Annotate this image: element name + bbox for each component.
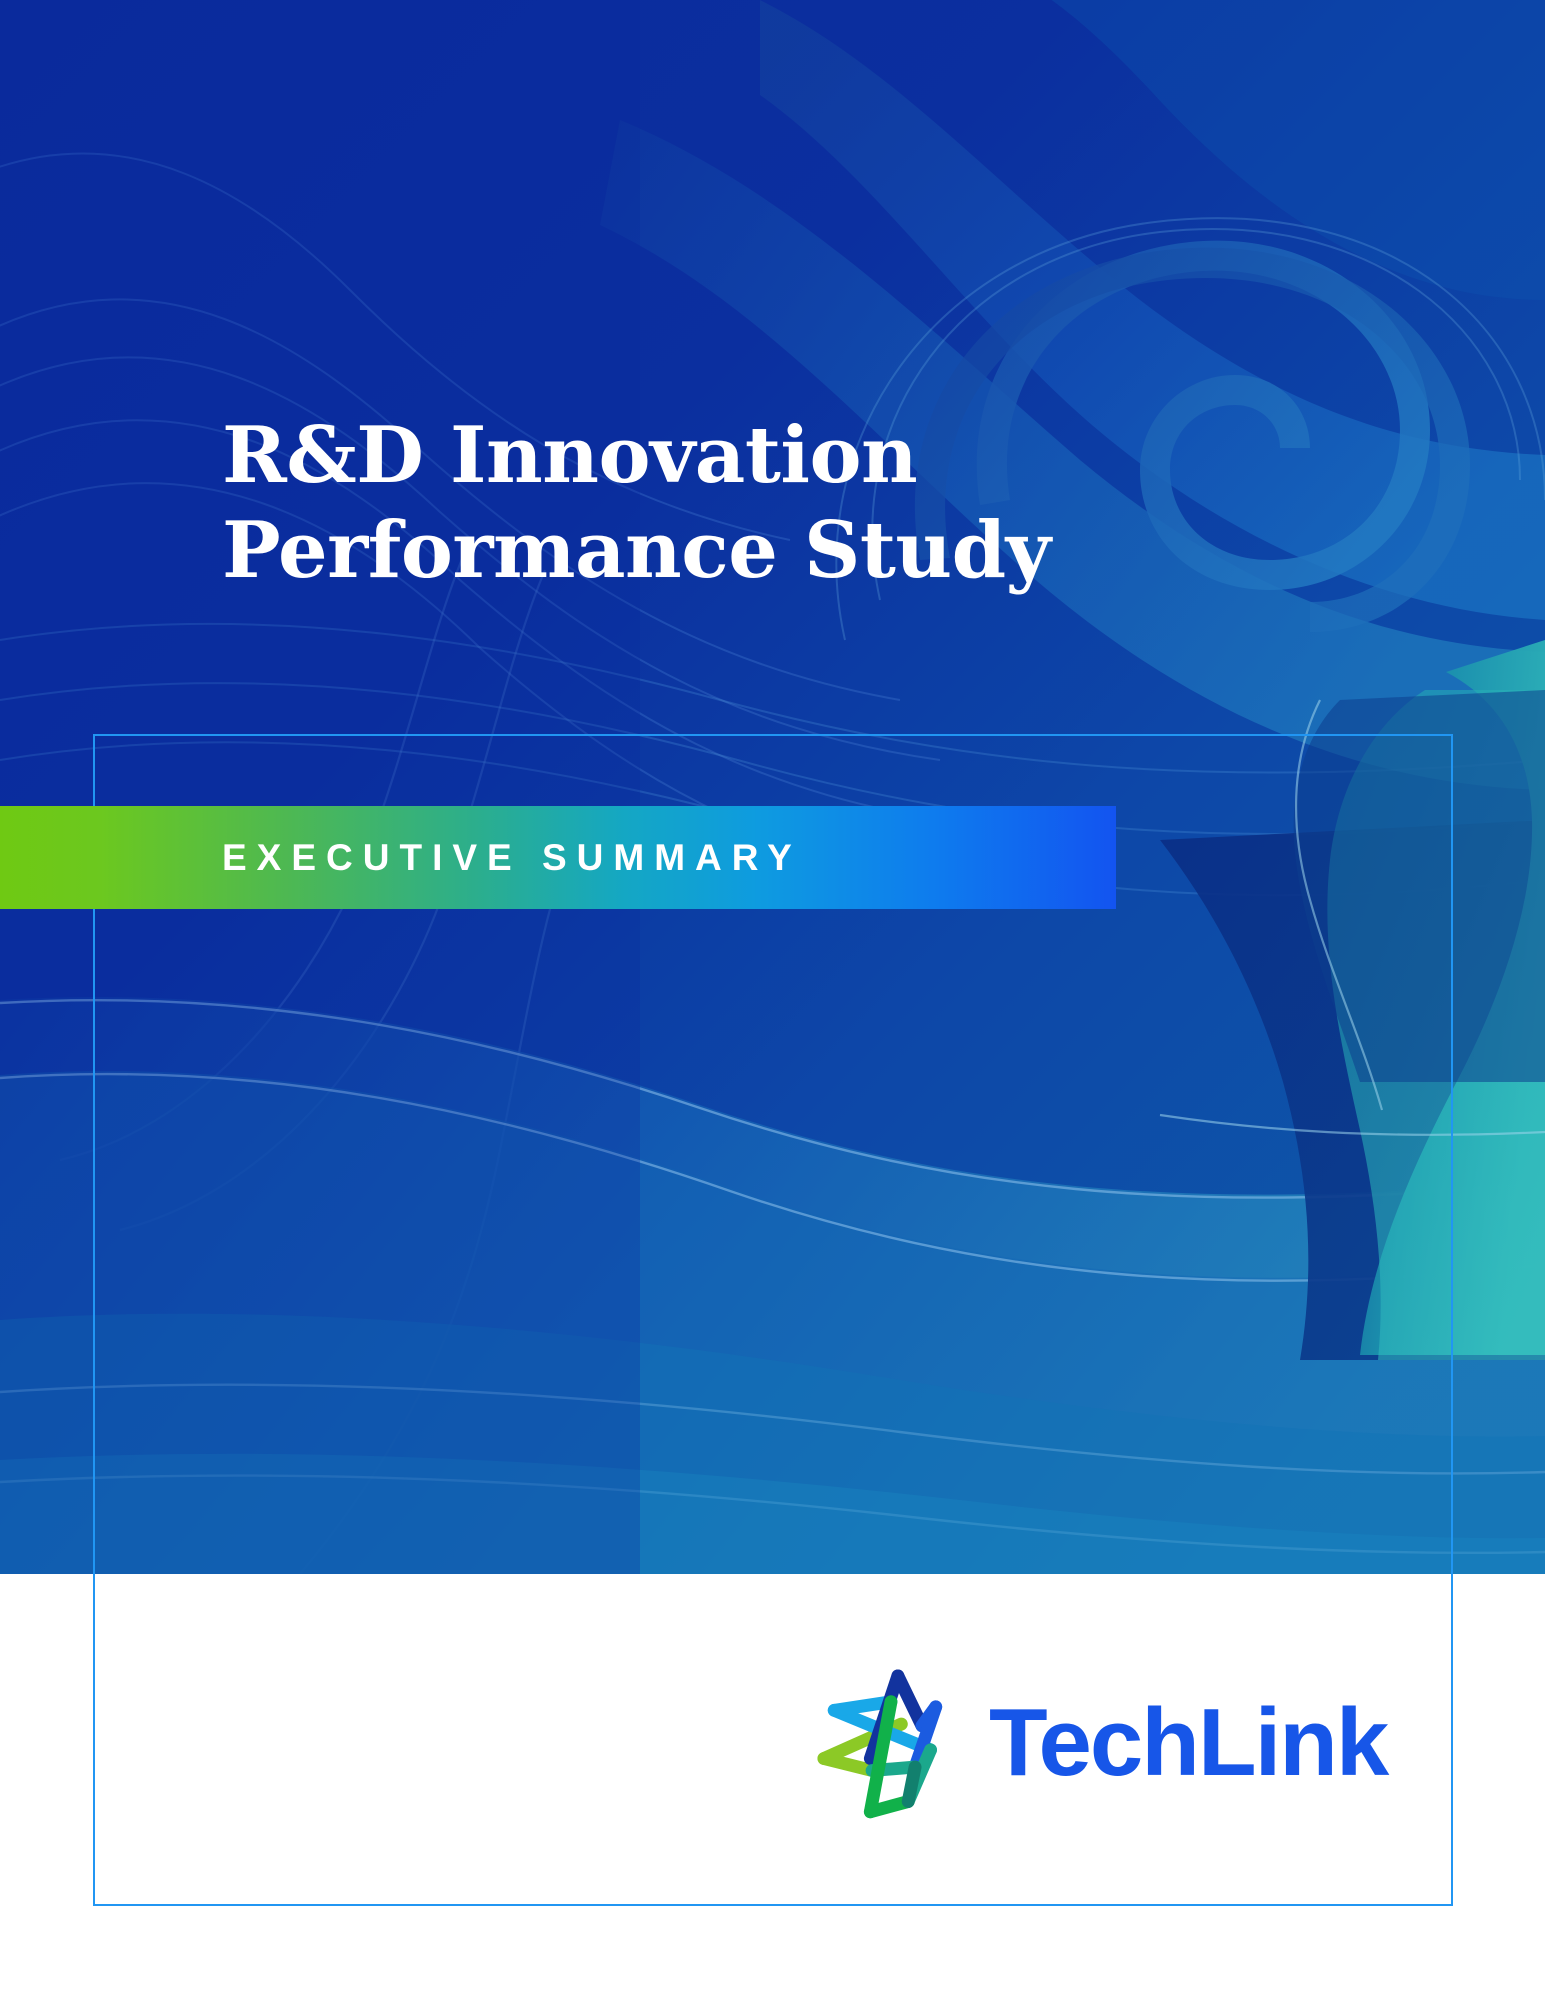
brand-wordmark: TechLink (989, 1695, 1387, 1791)
title-line-1: R&D Innovation (222, 408, 1222, 503)
title-line-2: Performance Study (222, 503, 1222, 598)
section-label-text: EXECUTIVE SUMMARY (222, 837, 802, 879)
hero-section (0, 0, 1545, 1574)
techlink-star-icon (805, 1657, 977, 1829)
brand-logo-lockup: TechLink (805, 1657, 1387, 1829)
cover-page: R&D Innovation Performance Study EXECUTI… (0, 0, 1545, 1999)
page-title: R&D Innovation Performance Study (222, 408, 1222, 598)
section-label-banner: EXECUTIVE SUMMARY (0, 806, 1116, 909)
abstract-wave-background-graphic (0, 0, 1545, 1574)
